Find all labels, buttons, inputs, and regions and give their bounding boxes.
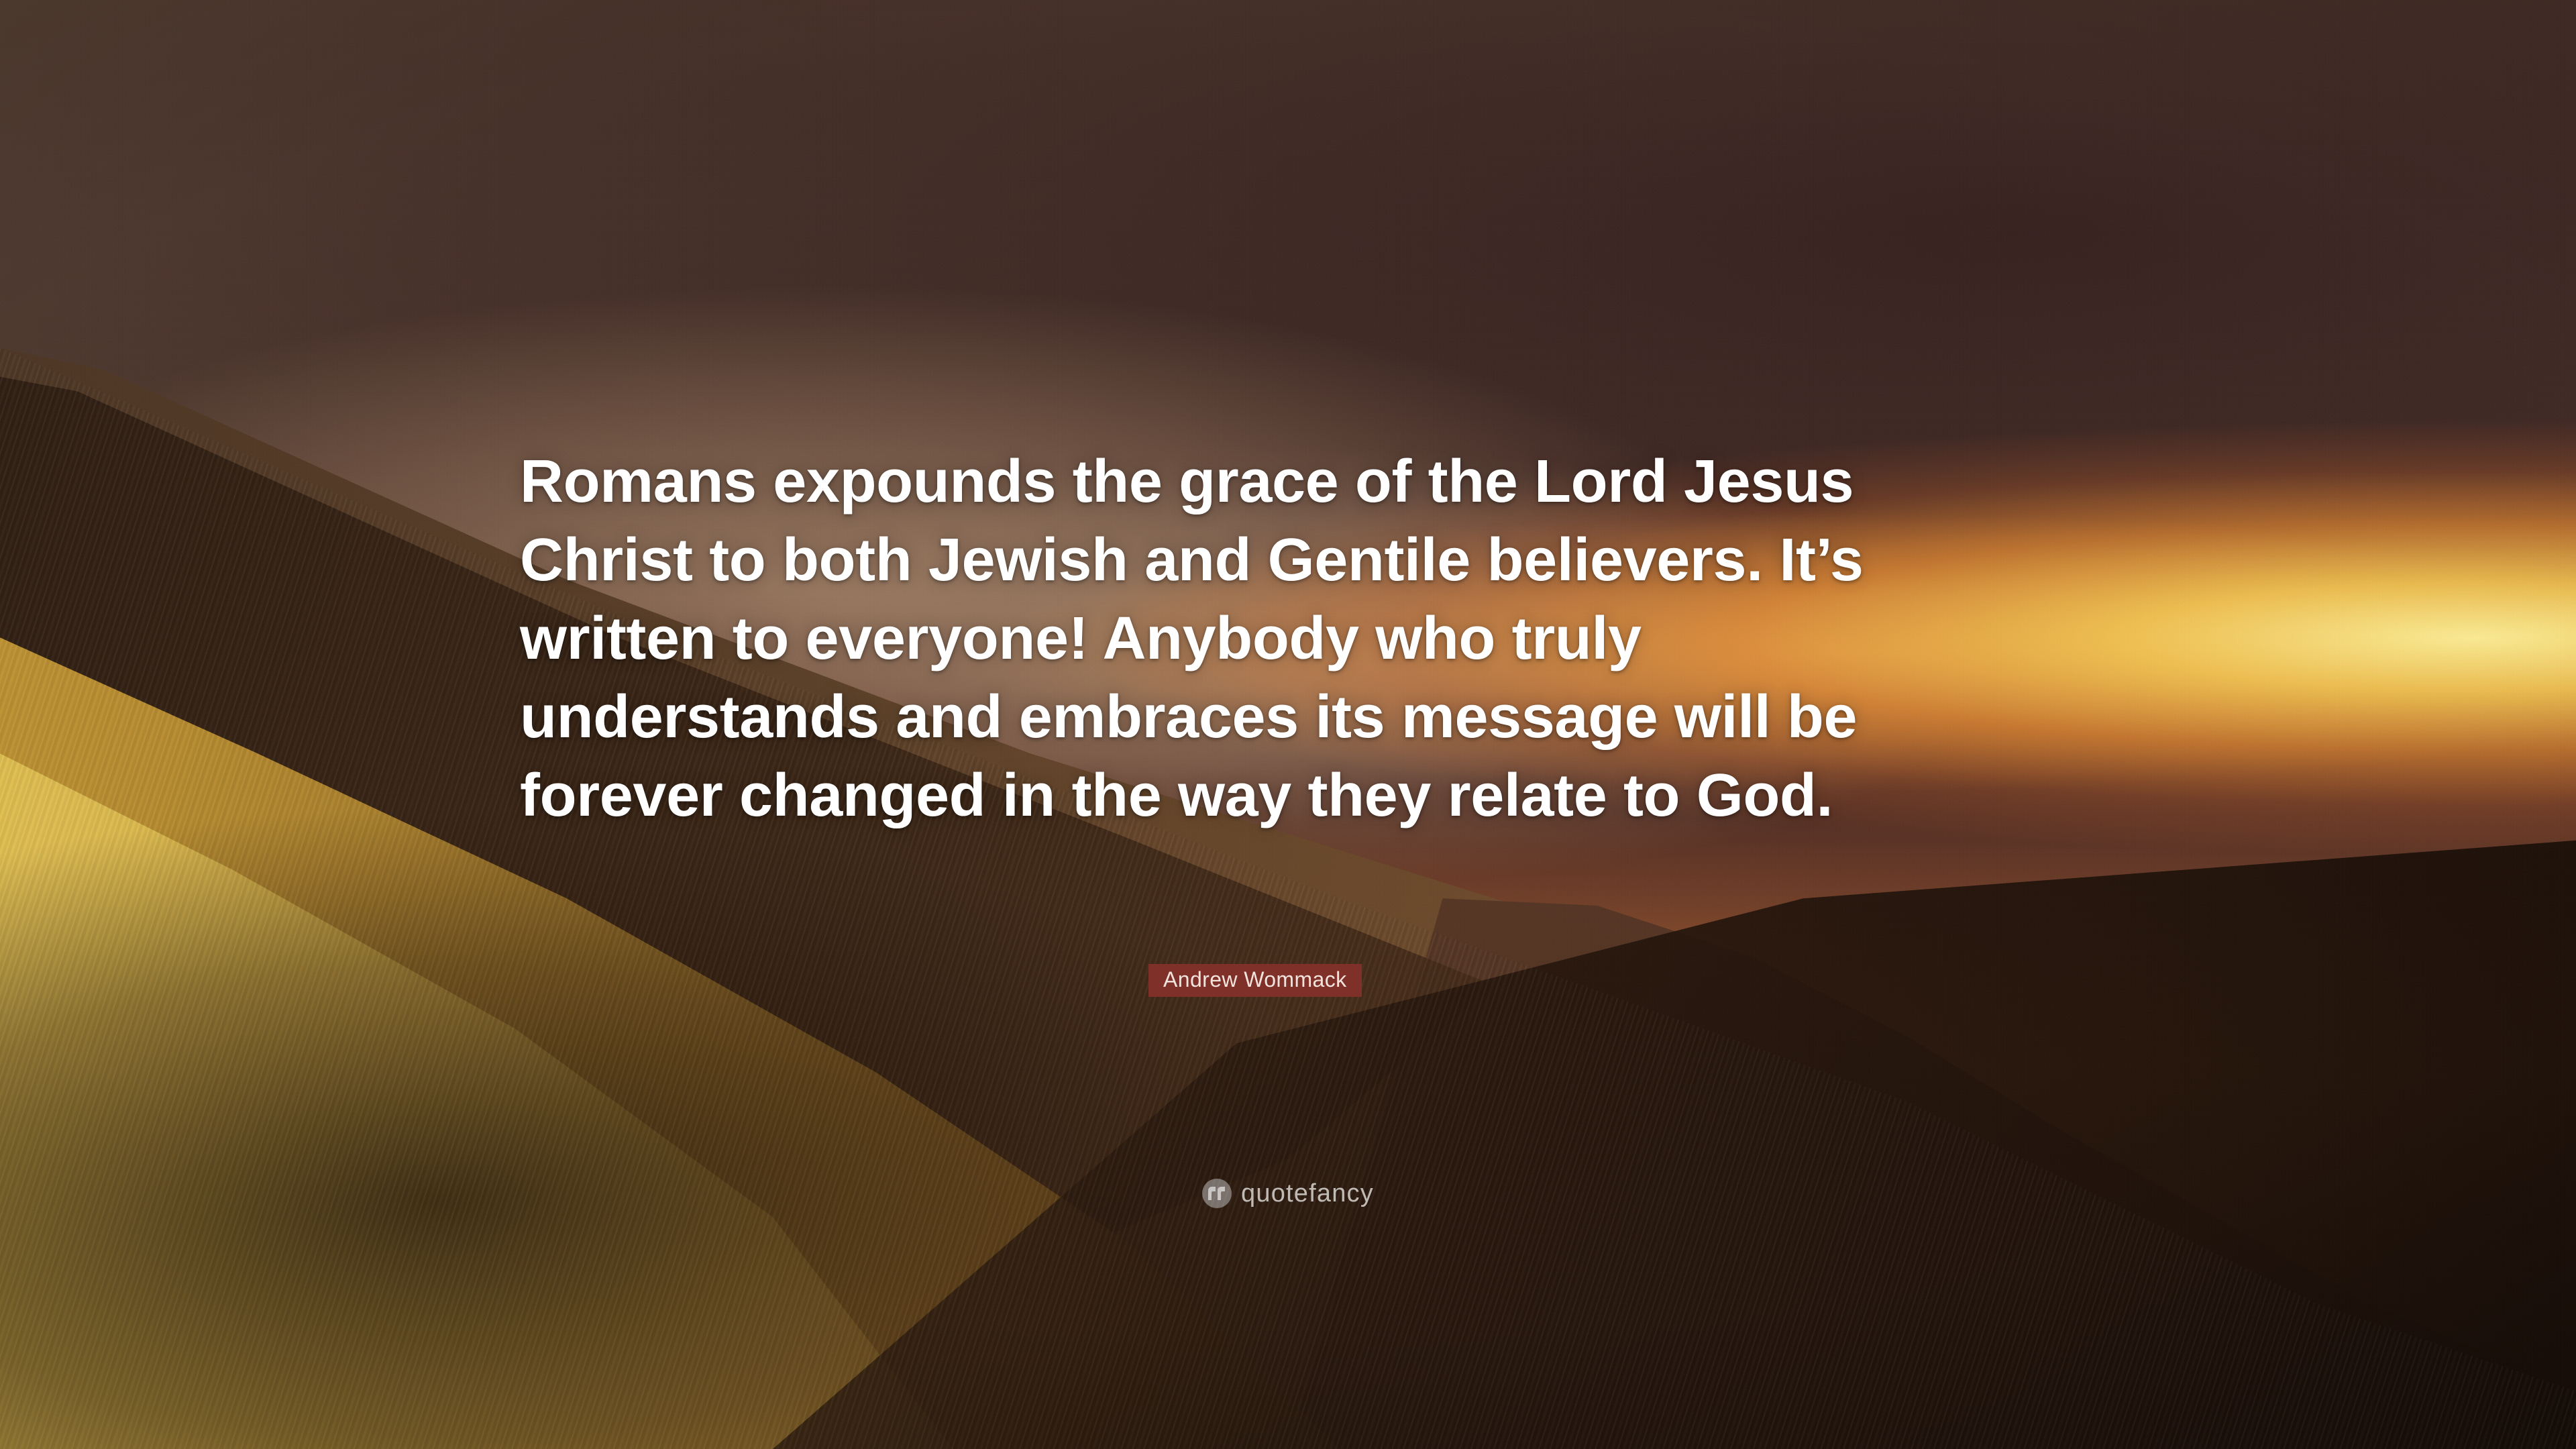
quote-line: Christ to both Jewish and Gentile believ… [520,521,2063,600]
quote-text-block: Romans expounds the grace of the Lord Je… [520,443,2063,835]
watermark-brand-text: quotefancy [1241,1181,1374,1206]
quote-line: written to everyone! Anybody who truly [520,600,2063,678]
quote-wallpaper: Romans expounds the grace of the Lord Je… [0,0,2576,1449]
quote-line: Romans expounds the grace of the Lord Je… [520,443,2063,521]
quotefancy-watermark[interactable]: quotefancy [0,1179,2576,1208]
quote-line: forever changed in the way they relate t… [520,757,2063,835]
author-attribution-badge[interactable]: Andrew Wommack [1148,964,1362,997]
quote-marks-icon [1202,1179,1232,1208]
quote-line: understands and embraces its message wil… [520,678,2063,757]
